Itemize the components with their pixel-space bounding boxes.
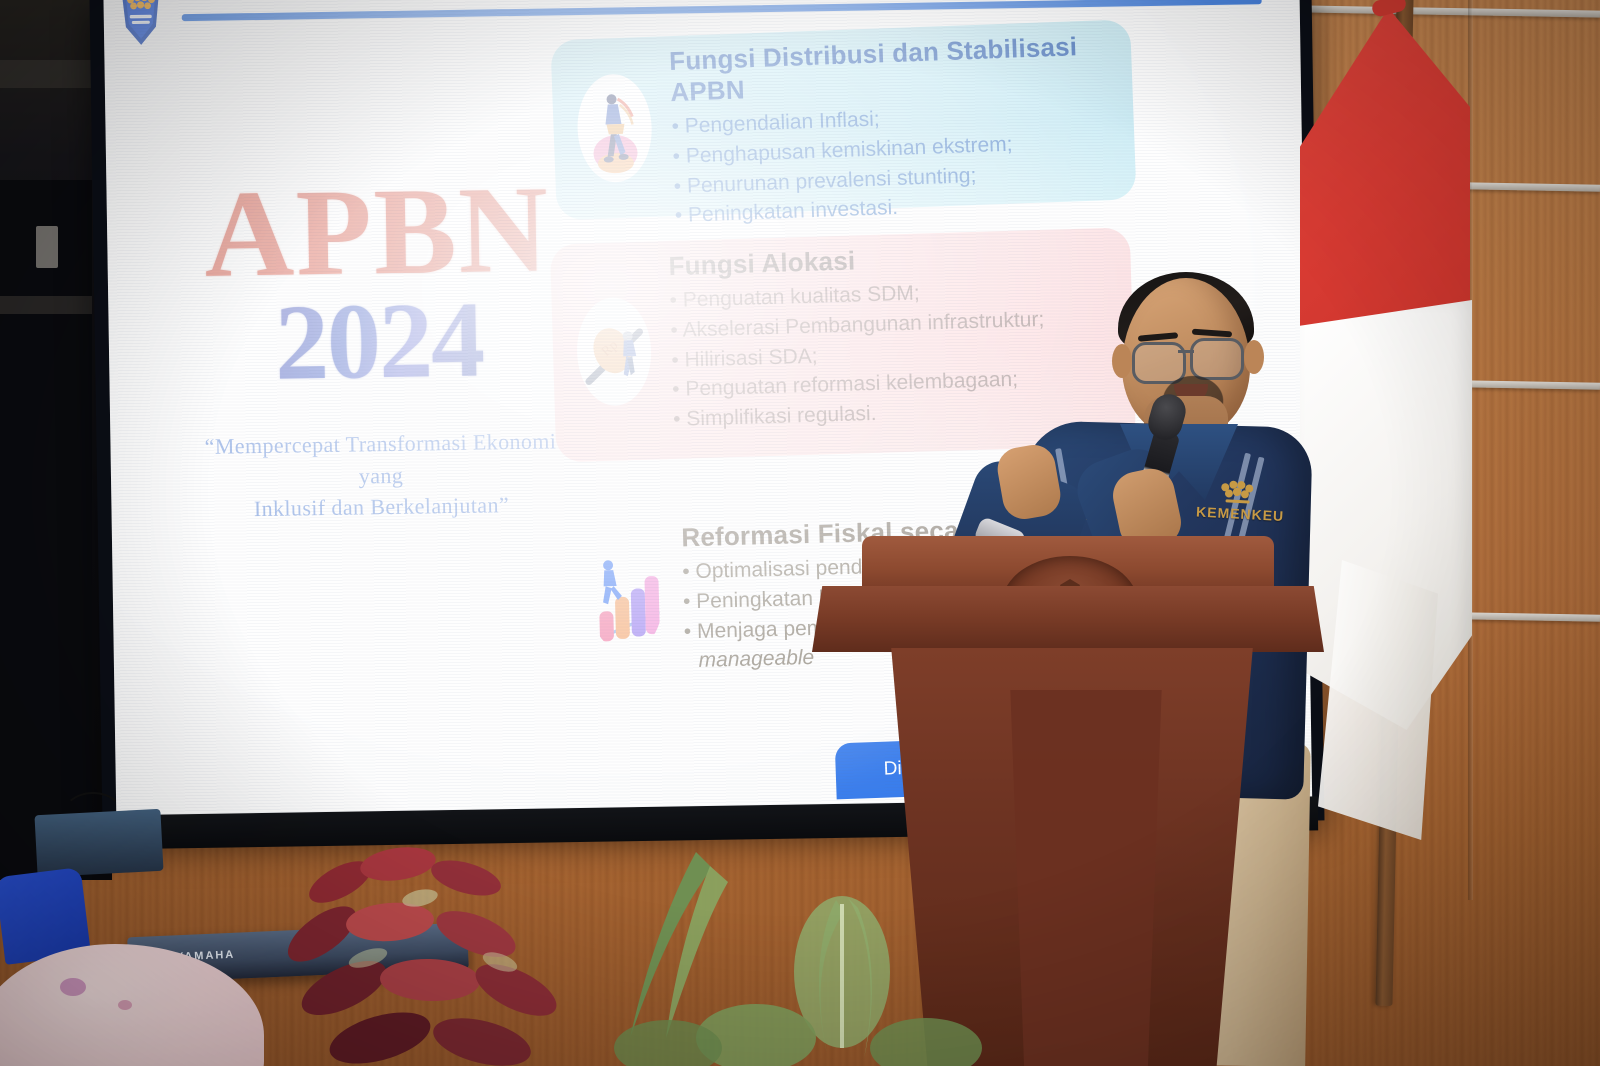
potted-plant-center (576, 842, 996, 1066)
page-title: APBN (186, 172, 568, 292)
left-cabinet-inner (0, 180, 92, 880)
headscarf-pattern-dot (60, 978, 86, 996)
slide-title-block: APBN 2024 “Mempercepat Transformasi Ekon… (186, 172, 571, 526)
slide-year: 2024 (188, 288, 570, 397)
tagline-line-2: Inklusif dan Berkelanjutan” (191, 489, 571, 527)
podium-top-ledge (812, 586, 1324, 652)
slide-tagline: “Mempercepat Transformasi Ekonomi yang I… (190, 425, 571, 527)
person-on-ball-icon (576, 73, 654, 184)
person-pushing-rupiah-coin-icon: Rp (576, 297, 653, 407)
headscarf-pattern-dot (118, 1000, 132, 1010)
shelf-bar-2 (0, 296, 92, 314)
speaker-ear-left (1112, 344, 1132, 378)
card-body: Fungsi Alokasi • Penguatan kualitas SDM;… (668, 238, 1117, 435)
podium-carved-panel (1000, 690, 1172, 1066)
card-title: Fungsi Distribusi dan Stabilisasi APBN (669, 30, 1115, 108)
person-climbing-bar-chart-icon (588, 544, 665, 654)
card-fungsi-alokasi: Rp Fungsi Alokasi • Penguatan kualitas S… (550, 227, 1136, 462)
audio-cable (62, 792, 124, 840)
speaker-ear-right (1244, 340, 1264, 374)
card-fungsi-distribusi: Fungsi Distribusi dan Stabilisasi APBN •… (550, 19, 1136, 220)
shelf-bar-1 (0, 60, 92, 88)
tagline-line-1: “Mempercepat Transformasi Ekonomi yang (190, 425, 571, 495)
shelf-object (36, 226, 58, 268)
kemenkeu-logo (117, 0, 164, 49)
slide-accent-rule (182, 0, 1262, 21)
eyeglasses-bridge (1178, 350, 1194, 353)
photo-scene: APBN 2024 “Mempercepat Transformasi Ekon… (0, 0, 1600, 1066)
card-body: Fungsi Distribusi dan Stabilisasi APBN •… (669, 30, 1119, 231)
